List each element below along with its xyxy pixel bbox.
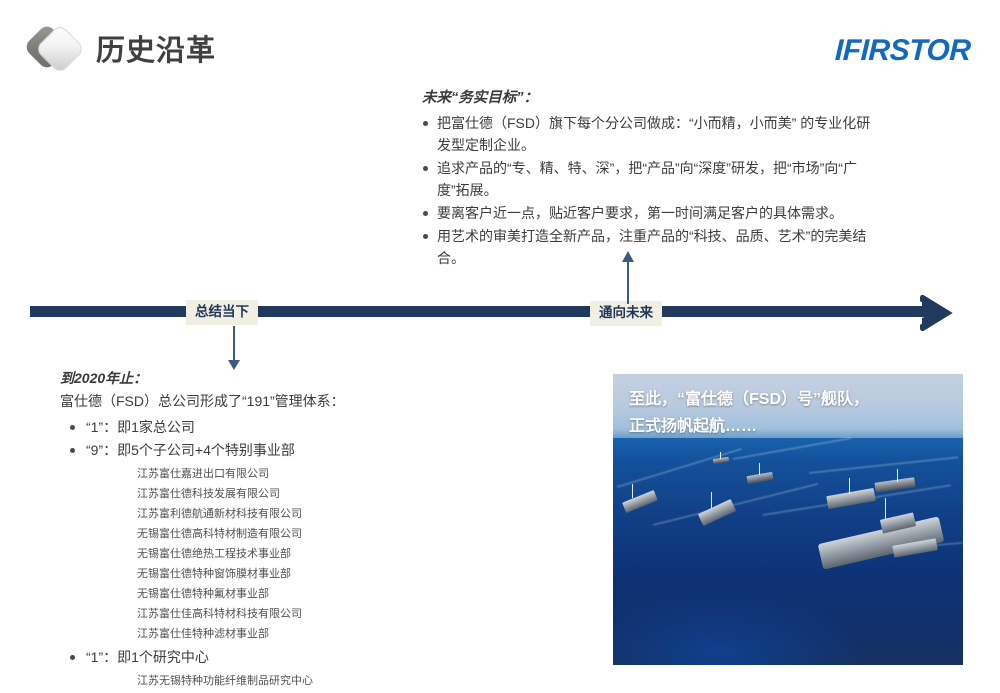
ship-mast <box>711 492 712 508</box>
past-summary-subtitle: 富仕德（FSD）总公司形成了“191”管理体系： <box>60 391 480 412</box>
future-goals-block: 未来“务实目标”： 把富仕德（FSD）旗下每个分公司做成：“小而精，小而美” 的… <box>422 86 882 270</box>
double-diamond-logo-icon <box>28 24 84 76</box>
arrow-down-icon <box>225 326 243 372</box>
arrow-up-icon <box>619 248 637 304</box>
list-item: 江苏富仕嘉进出口有限公司 <box>137 464 480 484</box>
list-item: “9”：即5个子公司+4个特别事业部 江苏富仕嘉进出口有限公司 江苏富仕德科技发… <box>60 439 480 644</box>
timeline-label-present: 总结当下 <box>186 300 258 325</box>
naval-fleet-photo: 至此，“富仕德（FSD）号”舰队， 正式扬帆起航…… <box>613 374 963 665</box>
page-title: 历史沿革 <box>96 27 216 69</box>
past-summary-heading: 到2020年止： <box>60 368 480 388</box>
ship-mast <box>849 478 850 494</box>
list-item: 把富仕德（FSD）旗下每个分公司做成：“小而精，小而美” 的专业化研发型定制企业… <box>422 112 882 156</box>
slide-root: 历史沿革 IFIRSTOR 未来“务实目标”： 把富仕德（FSD）旗下每个分公司… <box>0 0 1000 692</box>
subsidiary-list: 江苏富仕嘉进出口有限公司 江苏富仕德科技发展有限公司 江苏富利德航通新材科技有限… <box>86 464 480 644</box>
list-item: 江苏富仕德科技发展有限公司 <box>137 484 480 504</box>
list-item: 无锡富仕德绝热工程技术事业部 <box>137 544 480 564</box>
ship-mast <box>720 452 721 459</box>
future-goals-list: 把富仕德（FSD）旗下每个分公司做成：“小而精，小而美” 的专业化研发型定制企业… <box>422 112 882 269</box>
past-summary-list: “1”：即1家总公司 “9”：即5个子公司+4个特别事业部 江苏富仕嘉进出口有限… <box>60 416 480 691</box>
brand-wordmark: IFIRSTOR <box>834 34 971 68</box>
list-item: “1”：即1个研究中心 江苏无锡特种功能纤维制品研究中心 <box>60 646 480 691</box>
list-item: “1”：即1家总公司 <box>60 416 480 439</box>
list-item-label: “1”：即1家总公司 <box>86 419 195 435</box>
ship-mast <box>759 463 760 475</box>
photo-caption-line1: 至此，“富仕德（FSD）号”舰队， <box>629 386 869 413</box>
list-item-label: “1”：即1个研究中心 <box>86 649 209 665</box>
photo-caption-line2: 正式扬帆起航…… <box>629 413 869 440</box>
list-item: 无锡富仕德高科特材制造有限公司 <box>137 524 480 544</box>
future-goals-heading: 未来“务实目标”： <box>422 86 882 107</box>
photo-caption: 至此，“富仕德（FSD）号”舰队， 正式扬帆起航…… <box>629 386 869 440</box>
list-item: 无锡富仕德特种氟材事业部 <box>137 584 480 604</box>
list-item: 江苏富仕佳高科特材科技有限公司 <box>137 604 480 624</box>
list-item: 用艺术的审美打造全新产品，注重产品的“科技、品质、艺术”的完美结合。 <box>422 225 882 269</box>
list-item: 追求产品的“专、精、特、深”，把“产品”向“深度”研发，把“市场”向“广度”拓展… <box>422 157 882 201</box>
ship-mast <box>897 469 898 482</box>
list-item: 要离客户近一点，贴近客户要求，第一时间满足客户的具体需求。 <box>422 202 882 224</box>
research-center-list: 江苏无锡特种功能纤维制品研究中心 <box>86 671 480 691</box>
flagship-mast <box>885 498 886 520</box>
list-item: 江苏无锡特种功能纤维制品研究中心 <box>137 671 480 691</box>
past-summary-block: 到2020年止： 富仕德（FSD）总公司形成了“191”管理体系： “1”：即1… <box>60 368 480 693</box>
list-item-label: “9”：即5个子公司+4个特别事业部 <box>86 442 295 458</box>
timeline-label-future: 通向未来 <box>590 301 662 326</box>
list-item: 无锡富仕德特种窗饰膜材事业部 <box>137 564 480 584</box>
timeline-bar <box>30 306 935 317</box>
list-item: 江苏富仕佳特种滤材事业部 <box>137 624 480 644</box>
list-item: 江苏富利德航通新材科技有限公司 <box>137 504 480 524</box>
ship-mast <box>632 484 633 498</box>
